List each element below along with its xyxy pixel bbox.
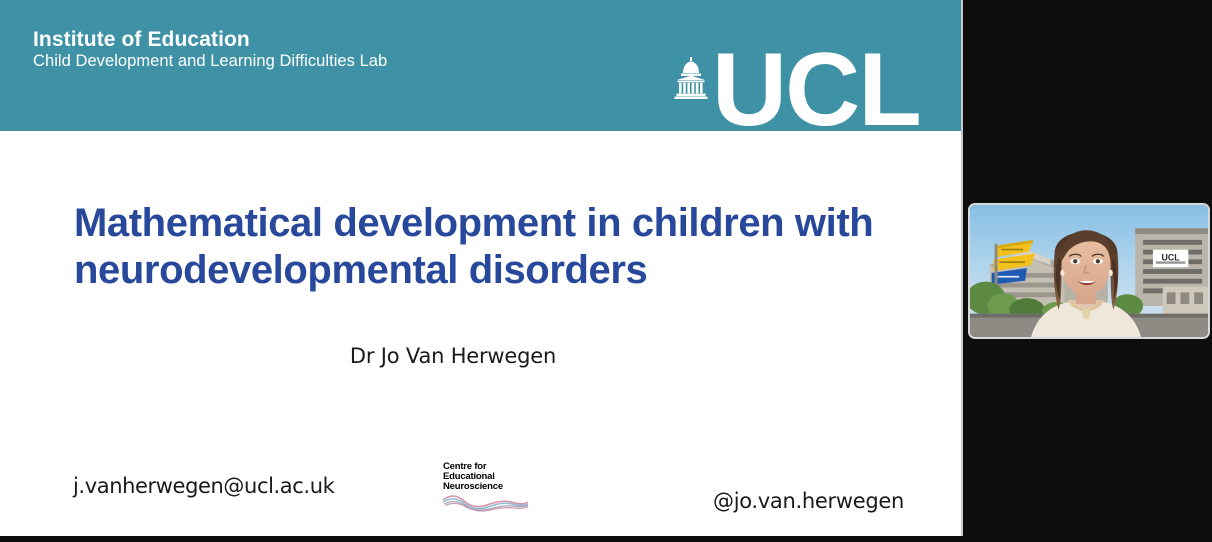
slide-title: Mathematical development in children wit…	[74, 200, 904, 294]
svg-text:UCL: UCL	[1162, 252, 1181, 262]
slide-social-handle: @jo.van.herwegen	[713, 489, 904, 513]
institute-name: Institute of Education	[33, 28, 250, 52]
cen-wave-icon	[439, 492, 531, 512]
slide-email: j.vanherwegen@ucl.ac.uk	[73, 474, 334, 498]
lab-name: Child Development and Learning Difficult…	[33, 52, 387, 71]
meeting-screen: Institute of Education Child Development…	[0, 0, 1212, 542]
presenter-video-tile[interactable]: UCL	[968, 203, 1210, 339]
ucl-logo: UCL	[668, 44, 936, 142]
ucl-portico-icon	[668, 56, 716, 100]
presentation-slide: Institute of Education Child Development…	[0, 0, 963, 536]
cen-logo-line-3: Neuroscience	[443, 482, 503, 492]
cen-logo: Centre for Educational Neuroscience	[437, 460, 533, 512]
slide-author: Dr Jo Van Herwegen	[0, 344, 906, 368]
presenter-video-frame: UCL	[970, 205, 1208, 337]
cen-logo-text: Centre for Educational Neuroscience	[443, 462, 503, 491]
ucl-wordmark: UCL	[712, 38, 920, 142]
